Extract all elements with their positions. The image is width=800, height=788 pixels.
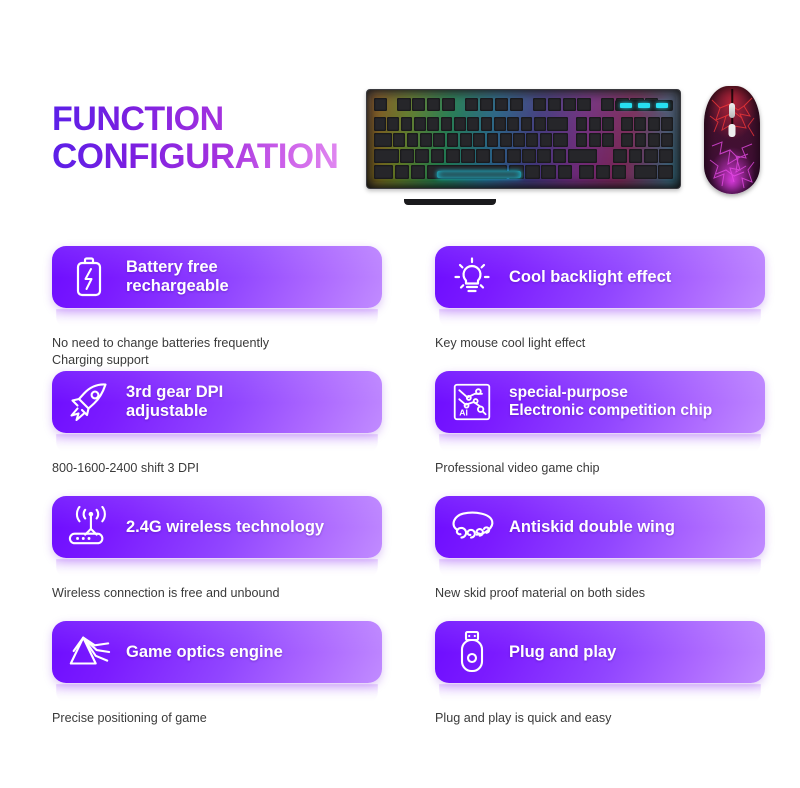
wifi-router-icon <box>52 506 126 548</box>
feature-title: Cool backlight effect <box>509 268 683 287</box>
infographic-page: FUNCTION CONFIGURATION <box>0 0 800 788</box>
feature-title-line: Cool backlight effect <box>509 268 671 287</box>
feature-caption: Professional video game chip <box>435 460 765 477</box>
page-title-line-1: FUNCTION <box>52 100 338 138</box>
card-reflection <box>439 309 761 329</box>
lightbulb-icon <box>435 256 509 298</box>
feature-card-antiskid[interactable]: Antiskid double wing New skid proof mate… <box>435 496 765 602</box>
keyboard-row-bottom <box>374 165 673 179</box>
card-reflection <box>439 559 761 579</box>
feature-card-banner[interactable]: Cool backlight effect <box>435 246 765 308</box>
feature-caption: Key mouse cool light effect <box>435 335 765 352</box>
feature-card-optics-engine[interactable]: Game optics engine Precise positioning o… <box>52 621 382 727</box>
feature-card-banner[interactable]: Plug and play <box>435 621 765 683</box>
feature-card-banner[interactable]: Battery free rechargeable <box>52 246 382 308</box>
card-reflection <box>56 309 378 329</box>
keyboard-indicator-strip <box>615 100 673 111</box>
feature-card-banner[interactable]: Game optics engine <box>52 621 382 683</box>
mouse-image <box>704 86 760 194</box>
feature-title-line: adjustable <box>126 402 223 421</box>
usb-drive-icon <box>435 630 509 674</box>
keyboard-image <box>366 89 681 189</box>
mouse-dpi-button <box>729 124 736 137</box>
feature-caption: No need to change batteries frequently C… <box>52 335 382 369</box>
feature-caption: 800-1600-2400 shift 3 DPI <box>52 460 382 477</box>
feature-title: Antiskid double wing <box>509 518 687 537</box>
feature-title-line: rechargeable <box>126 277 229 296</box>
feature-title-line: Plug and play <box>509 643 616 662</box>
feature-caption: Precise positioning of game <box>52 710 382 727</box>
card-reflection <box>56 434 378 454</box>
feature-title: 3rd gear DPI adjustable <box>126 383 235 421</box>
feature-title-line: Electronic competition chip <box>509 402 712 421</box>
feature-card-cool-backlight[interactable]: Cool backlight effect Key mouse cool lig… <box>435 246 765 352</box>
page-title-line-2: CONFIGURATION <box>52 138 338 176</box>
antiskid-swirl-icon <box>435 508 509 546</box>
feature-title: special-purpose Electronic competition c… <box>509 384 724 421</box>
keyboard-row-qwerty <box>374 133 673 147</box>
rocket-icon <box>52 381 126 423</box>
keyboard-front-foot <box>404 199 496 205</box>
feature-title: Plug and play <box>509 643 628 662</box>
feature-title-line: Game optics engine <box>126 643 283 662</box>
keyboard-row-home <box>374 149 673 163</box>
feature-card-plug-and-play[interactable]: Plug and play Plug and play is quick and… <box>435 621 765 727</box>
feature-card-banner[interactable]: 2.4G wireless technology <box>52 496 382 558</box>
feature-card-banner[interactable]: Antiskid double wing <box>435 496 765 558</box>
feature-card-ai-chip[interactable]: AI special-purpose Electronic competitio… <box>435 371 765 477</box>
keyboard-row-number <box>374 117 673 131</box>
mouse-body <box>704 86 760 194</box>
card-reflection <box>439 434 761 454</box>
feature-card-banner[interactable]: AI special-purpose Electronic competitio… <box>435 371 765 433</box>
mouse-scroll-wheel <box>729 103 735 118</box>
feature-caption: Plug and play is quick and easy <box>435 710 765 727</box>
page-title: FUNCTION CONFIGURATION <box>52 100 338 176</box>
feature-title: 2.4G wireless technology <box>126 518 336 537</box>
card-reflection <box>439 684 761 704</box>
feature-title-line: 3rd gear DPI <box>126 383 223 402</box>
card-reflection <box>56 559 378 579</box>
feature-card-battery-free[interactable]: Battery free rechargeable No need to cha… <box>52 246 382 369</box>
feature-card-wireless[interactable]: 2.4G wireless technology Wireless connec… <box>52 496 382 602</box>
header: FUNCTION CONFIGURATION <box>0 0 800 225</box>
feature-title-line: Antiskid double wing <box>509 518 675 537</box>
svg-text:AI: AI <box>459 408 468 418</box>
battery-bolt-icon <box>52 256 126 298</box>
feature-card-banner[interactable]: 3rd gear DPI adjustable <box>52 371 382 433</box>
feature-title: Game optics engine <box>126 643 295 662</box>
card-reflection <box>56 684 378 704</box>
feature-title-line: special-purpose <box>509 384 712 403</box>
feature-card-dpi-adjustable[interactable]: 3rd gear DPI adjustable 800-1600-2400 sh… <box>52 371 382 477</box>
ai-chip-icon: AI <box>435 382 509 422</box>
feature-caption: New skid proof material on both sides <box>435 585 765 602</box>
feature-title: Battery free rechargeable <box>126 258 241 296</box>
feature-title-line: Battery free <box>126 258 229 277</box>
keyboard-spacebar-glow <box>437 171 521 178</box>
prism-optics-icon <box>52 632 126 672</box>
feature-title-line: 2.4G wireless technology <box>126 518 324 537</box>
feature-caption: Wireless connection is free and unbound <box>52 585 382 602</box>
product-image <box>366 85 766 200</box>
